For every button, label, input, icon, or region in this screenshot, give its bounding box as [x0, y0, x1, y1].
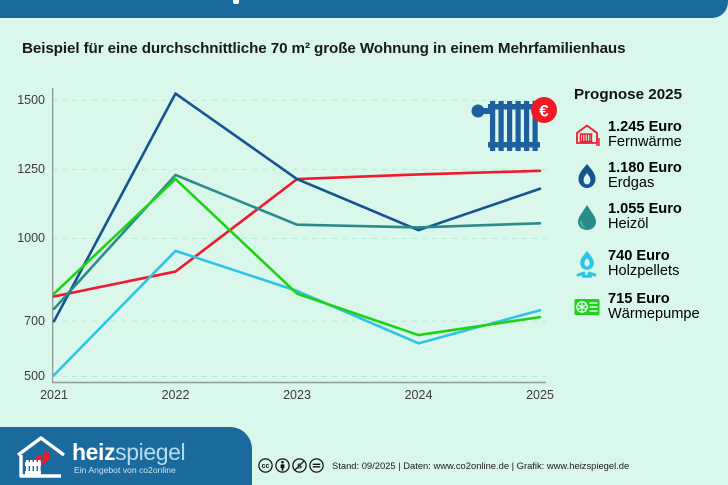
- oil-drop-icon: [572, 201, 602, 233]
- series-line-wärmepumpe: [54, 179, 540, 335]
- logo-word-light: spiegel: [115, 439, 185, 465]
- y-axis-tick-label: 700: [3, 314, 45, 328]
- series-line-holzpellets: [54, 251, 540, 375]
- heizspiegel-logo[interactable]: heizspiegel Ein Angebot von co2online: [0, 427, 252, 485]
- x-axis-labels: 20212022202320242025: [52, 388, 552, 408]
- radiator-euro-icon: €: [468, 97, 560, 159]
- legend-value: 1.180 Euro: [608, 161, 682, 176]
- credit-text: Stand: 09/2025 | Daten: www.co2online.de…: [332, 460, 629, 471]
- x-axis-tick-label: 2025: [526, 388, 554, 402]
- logo-word-bold: heiz: [72, 439, 115, 465]
- svg-text:cc: cc: [262, 463, 270, 470]
- legend-label: Holzpellets: [608, 264, 679, 279]
- cc-icon: cc: [258, 458, 273, 473]
- legend-label: Erdgas: [608, 176, 682, 191]
- top-bar: [0, 0, 728, 18]
- footer-credit: cc S Stand: 09/2025 | Daten: www.co2onli…: [258, 458, 629, 473]
- legend-label: Wärmepumpe: [608, 307, 700, 322]
- legend-value: 740 Euro: [608, 249, 679, 264]
- creative-commons-icons: cc S: [258, 458, 324, 473]
- by-icon: [275, 458, 290, 473]
- legend-value: 1.245 Euro: [608, 120, 682, 135]
- legend-item-waermepumpe: 715 Euro Wärmepumpe: [572, 291, 724, 323]
- wood-pellets-icon: [572, 248, 602, 280]
- legend-item-heizoel: 1.055 Euro Heizöl: [572, 201, 724, 233]
- legend-item-fernwaerme: 1.245 Euro Fernwärme: [572, 119, 724, 151]
- logo-subtitle: Ein Angebot von co2online: [74, 465, 176, 475]
- district-heating-icon: [572, 119, 602, 151]
- legend: Prognose 2025 1.245 Euro Fernwärme: [572, 86, 724, 332]
- y-axis-tick-label: 1250: [3, 162, 45, 176]
- legend-label: Heizöl: [608, 217, 682, 232]
- legend-label: Fernwärme: [608, 135, 682, 150]
- top-bar-notch: [233, 0, 239, 4]
- legend-title: Prognose 2025: [574, 86, 724, 103]
- legend-value: 715 Euro: [608, 292, 700, 307]
- nd-icon: [309, 458, 324, 473]
- house-radiator-logo-icon: [14, 435, 68, 479]
- series-line-fernwärme: [54, 171, 540, 297]
- x-axis-tick-label: 2023: [283, 388, 311, 402]
- y-axis-labels: 150012501000700500: [0, 88, 45, 388]
- series-line-heizöl: [54, 175, 540, 309]
- y-axis-tick-label: 1500: [3, 93, 45, 107]
- heat-pump-icon: [572, 291, 602, 323]
- x-axis-tick-label: 2024: [405, 388, 433, 402]
- x-axis-tick-label: 2021: [40, 388, 68, 402]
- legend-item-erdgas: 1.180 Euro Erdgas: [572, 160, 724, 192]
- legend-value: 1.055 Euro: [608, 202, 682, 217]
- nc-icon: S: [292, 458, 307, 473]
- legend-item-holzpellets: 740 Euro Holzpellets: [572, 248, 724, 280]
- svg-text:€: €: [539, 102, 549, 121]
- page-title: Beispiel für eine durchschnittliche 70 m…: [22, 40, 625, 57]
- y-axis-tick-label: 500: [3, 369, 45, 383]
- x-axis-tick-label: 2022: [162, 388, 190, 402]
- y-axis-tick-label: 1000: [3, 231, 45, 245]
- gas-flame-icon: [572, 160, 602, 192]
- logo-wordmark: heizspiegel: [72, 439, 185, 466]
